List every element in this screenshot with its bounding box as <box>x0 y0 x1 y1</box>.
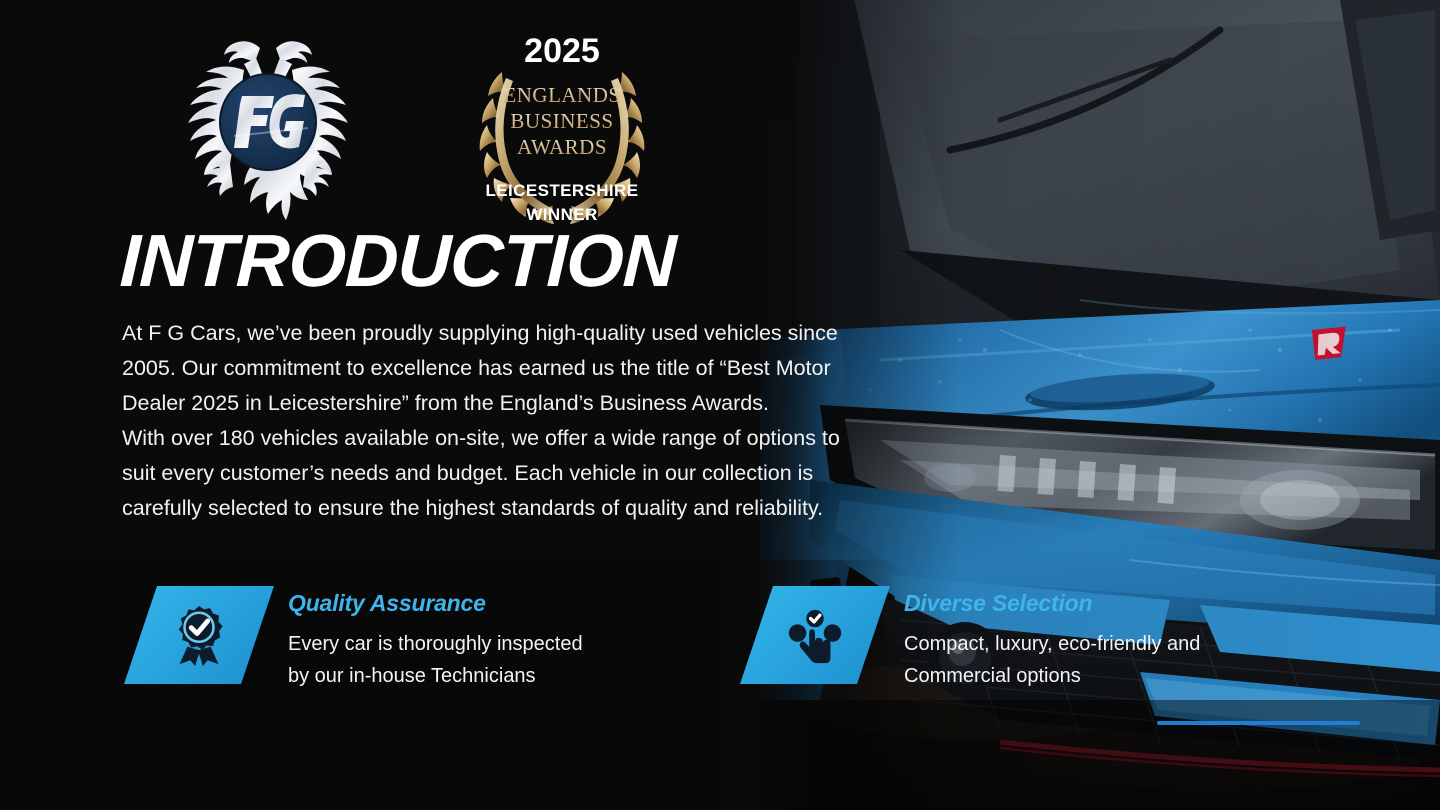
fg-cars-eagle-logo <box>168 18 368 223</box>
feature-card-description: Compact, luxury, eco-friendly and Commer… <box>904 628 1284 692</box>
select-options-hand-icon <box>784 604 846 666</box>
feature-card-title: Quality Assurance <box>288 590 588 618</box>
page-title: INTRODUCTION <box>119 224 677 298</box>
feature-icon-tile <box>124 586 274 684</box>
accent-bar <box>1157 721 1360 725</box>
feature-icon-tile <box>740 586 890 684</box>
feature-card-diverse-selection: Diverse Selection Compact, luxury, eco-f… <box>740 586 1340 692</box>
feature-card-quality-assurance: Quality Assurance Every car is thoroughl… <box>124 586 724 692</box>
body-copy: At F G Cars, we’ve been proudly supplyin… <box>122 316 842 526</box>
badge-line3-text: AWARDS <box>517 135 607 159</box>
body-paragraph-2: With over 180 vehicles available on-site… <box>122 421 842 526</box>
slide-root: 2025 <box>0 0 1440 810</box>
body-paragraph-1: At F G Cars, we’ve been proudly supplyin… <box>122 316 842 421</box>
award-rosette-check-icon <box>168 604 230 666</box>
badge-year-text: 2025 <box>524 32 600 70</box>
badge-line1-text: ENGLANDS <box>503 83 620 107</box>
feature-card-text: Quality Assurance Every car is thoroughl… <box>274 586 588 692</box>
badge-region-text: LEICESTERSHIRE <box>486 181 639 200</box>
feature-card-text: Diverse Selection Compact, luxury, eco-f… <box>890 586 1284 692</box>
feature-card-title: Diverse Selection <box>904 590 1284 618</box>
slide-content: 2025 <box>0 0 1440 810</box>
badge-line2-text: BUSINESS <box>510 109 613 133</box>
award-badge: 2025 <box>462 18 662 228</box>
feature-card-description: Every car is thoroughly inspected by our… <box>288 628 588 692</box>
